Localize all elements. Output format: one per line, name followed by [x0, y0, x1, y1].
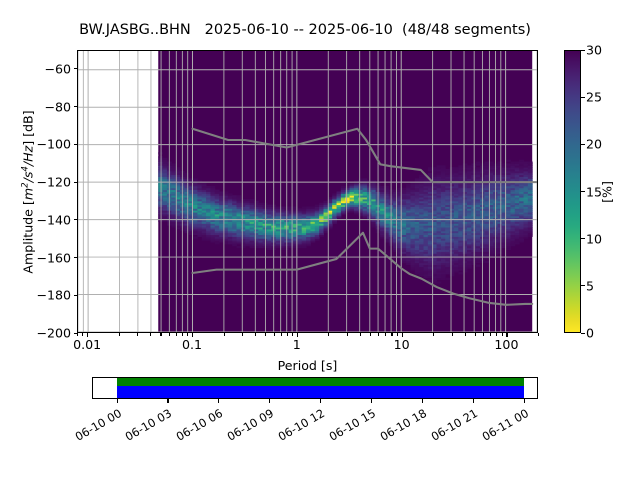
x-tick-mark [77, 333, 78, 336]
y-tick-label: −100 [11, 137, 71, 152]
x-tick-mark [169, 333, 170, 336]
timeline-tick-mark [371, 399, 372, 403]
x-tick-label: 0.1 [182, 337, 202, 352]
timeline-date-label: 06-10 18 [372, 406, 429, 447]
ppsd-plot-area[interactable] [77, 50, 538, 333]
x-tick-mark [82, 333, 83, 336]
x-tick-mark [465, 333, 466, 336]
x-tick-mark [391, 333, 392, 336]
y-tick-mark [74, 219, 78, 220]
x-tick-mark [347, 333, 348, 336]
y-axis-unit-exp-4: 4 [20, 166, 30, 171]
x-tick-mark [292, 333, 293, 336]
colorbar-tick-label: 5 [586, 278, 594, 293]
data-coverage-band [117, 378, 525, 386]
x-tick-mark [274, 333, 275, 336]
x-tick-mark [433, 333, 434, 336]
ppsd-histogram-mesh [78, 51, 537, 332]
y-tick-mark [74, 257, 78, 258]
x-tick-mark [224, 333, 225, 336]
x-tick-mark [281, 333, 282, 336]
x-tick-mark [187, 333, 188, 336]
y-tick-label: −180 [11, 288, 71, 303]
timeline-date-label: 06-10 00 [66, 406, 123, 447]
timeline-date-label: 06-10 03 [117, 406, 174, 447]
x-tick-mark [119, 333, 120, 336]
colorbar-label-area: [%] [597, 50, 617, 333]
x-tick-mark [490, 333, 491, 336]
y-tick-mark [74, 68, 78, 69]
x-tick-mark [160, 333, 161, 336]
timeline-date-label: 06-10 09 [219, 406, 276, 447]
timeline-tick-mark [117, 399, 118, 403]
x-tick-mark [328, 333, 329, 336]
y-tick-label: −200 [11, 326, 71, 341]
y-tick-label: −120 [11, 175, 71, 190]
timeline-tick-mark [269, 399, 270, 403]
timeline-tick-mark [422, 399, 423, 403]
x-tick-mark [378, 333, 379, 336]
colorbar-tick-label: 0 [586, 326, 594, 341]
x-tick-mark [397, 333, 398, 336]
page-title: BW.JASBG..BHN 2025-06-10 -- 2025-06-10 (… [0, 22, 610, 38]
x-tick-mark [150, 333, 151, 336]
x-tick-mark [452, 333, 453, 336]
y-tick-label: −140 [11, 212, 71, 227]
x-tick-label: 1 [293, 337, 301, 352]
x-tick-mark [255, 333, 256, 336]
colorbar-tick-mark [581, 285, 585, 286]
y-tick-label: −80 [11, 99, 71, 114]
colorbar [564, 50, 581, 333]
x-tick-mark [176, 333, 177, 336]
timeline-tick-mark [320, 399, 321, 403]
x-tick-mark [287, 333, 288, 336]
colorbar-tick-mark [581, 238, 585, 239]
x-tick-mark [182, 333, 183, 336]
colorbar-gradient [565, 51, 580, 332]
timeline-tick-mark [524, 399, 525, 403]
x-tick-mark [242, 333, 243, 336]
timeline-date-label: 06-10 15 [321, 406, 378, 447]
timeline-date-label: 06-10 06 [168, 406, 225, 447]
colorbar-tick-mark [581, 50, 585, 51]
timeline-tick-mark [218, 399, 219, 403]
x-tick-label: 10 [394, 337, 410, 352]
x-tick-mark [475, 333, 476, 336]
y-tick-mark [74, 295, 78, 296]
x-tick-mark [265, 333, 266, 336]
timeline-tick-mark [473, 399, 474, 403]
colorbar-label: [%] [600, 170, 615, 214]
colorbar-tick-mark [581, 333, 585, 334]
colorbar-tick-mark [581, 97, 585, 98]
x-tick-mark [496, 333, 497, 336]
x-tick-mark [385, 333, 386, 336]
y-tick-mark [74, 144, 78, 145]
x-tick-mark [137, 333, 138, 336]
y-tick-label: −60 [11, 61, 71, 76]
y-tick-label: −160 [11, 250, 71, 265]
x-tick-mark [370, 333, 371, 336]
timeline-date-label: 06-10 12 [270, 406, 327, 447]
y-tick-mark [74, 106, 78, 107]
y-tick-mark [74, 182, 78, 183]
timeline-coverage-axes[interactable] [92, 377, 538, 399]
ppsd-figure: BW.JASBG..BHN 2025-06-10 -- 2025-06-10 (… [0, 0, 640, 480]
x-tick-mark [360, 333, 361, 336]
psd-segments-band [117, 386, 525, 398]
x-tick-mark [502, 333, 503, 336]
x-tick-label: 100 [494, 337, 518, 352]
x-tick-label: 0.01 [73, 337, 101, 352]
colorbar-tick-mark [581, 144, 585, 145]
colorbar-tick-mark [581, 191, 585, 192]
timeline-date-label: 06-11 00 [474, 406, 531, 447]
x-axis-label: Period [s] [77, 358, 538, 373]
timeline-date-label: 06-10 21 [423, 406, 480, 447]
x-tick-mark [483, 333, 484, 336]
x-tick-mark [538, 333, 539, 336]
timeline-tick-mark [167, 399, 168, 403]
